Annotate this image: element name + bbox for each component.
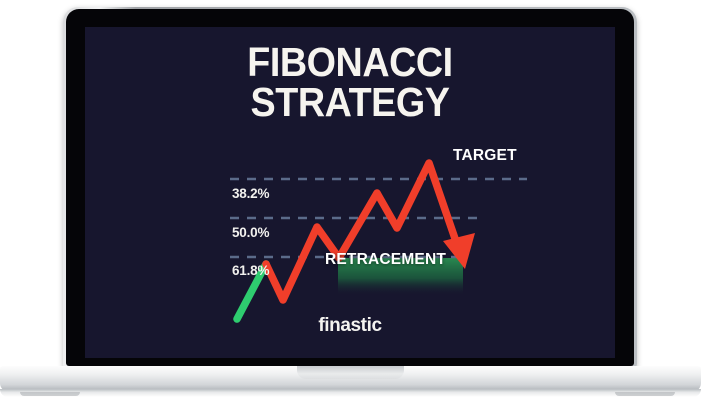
laptop-foot-left — [20, 392, 80, 396]
laptop-foot-right — [615, 392, 675, 396]
fibonacci-chart: 38.2% 50.0% 61.8% TARGET RETRACEMENT — [85, 27, 615, 358]
laptop-mockup: FIBONACCI STRATEGY — [0, 0, 701, 405]
retracement-annotation: RETRACEMENT — [325, 251, 446, 269]
laptop-base-notch — [297, 366, 404, 379]
fib-level-label-38-2: 38.2% — [232, 186, 269, 201]
target-annotation: TARGET — [453, 147, 517, 165]
brand-logo: finastic — [85, 315, 615, 337]
laptop-screen: FIBONACCI STRATEGY — [85, 27, 615, 358]
chart-svg — [85, 27, 615, 358]
fib-level-label-50-0: 50.0% — [232, 225, 269, 240]
laptop-base-edge — [0, 389, 701, 397]
fib-level-label-61-8: 61.8% — [232, 263, 269, 278]
